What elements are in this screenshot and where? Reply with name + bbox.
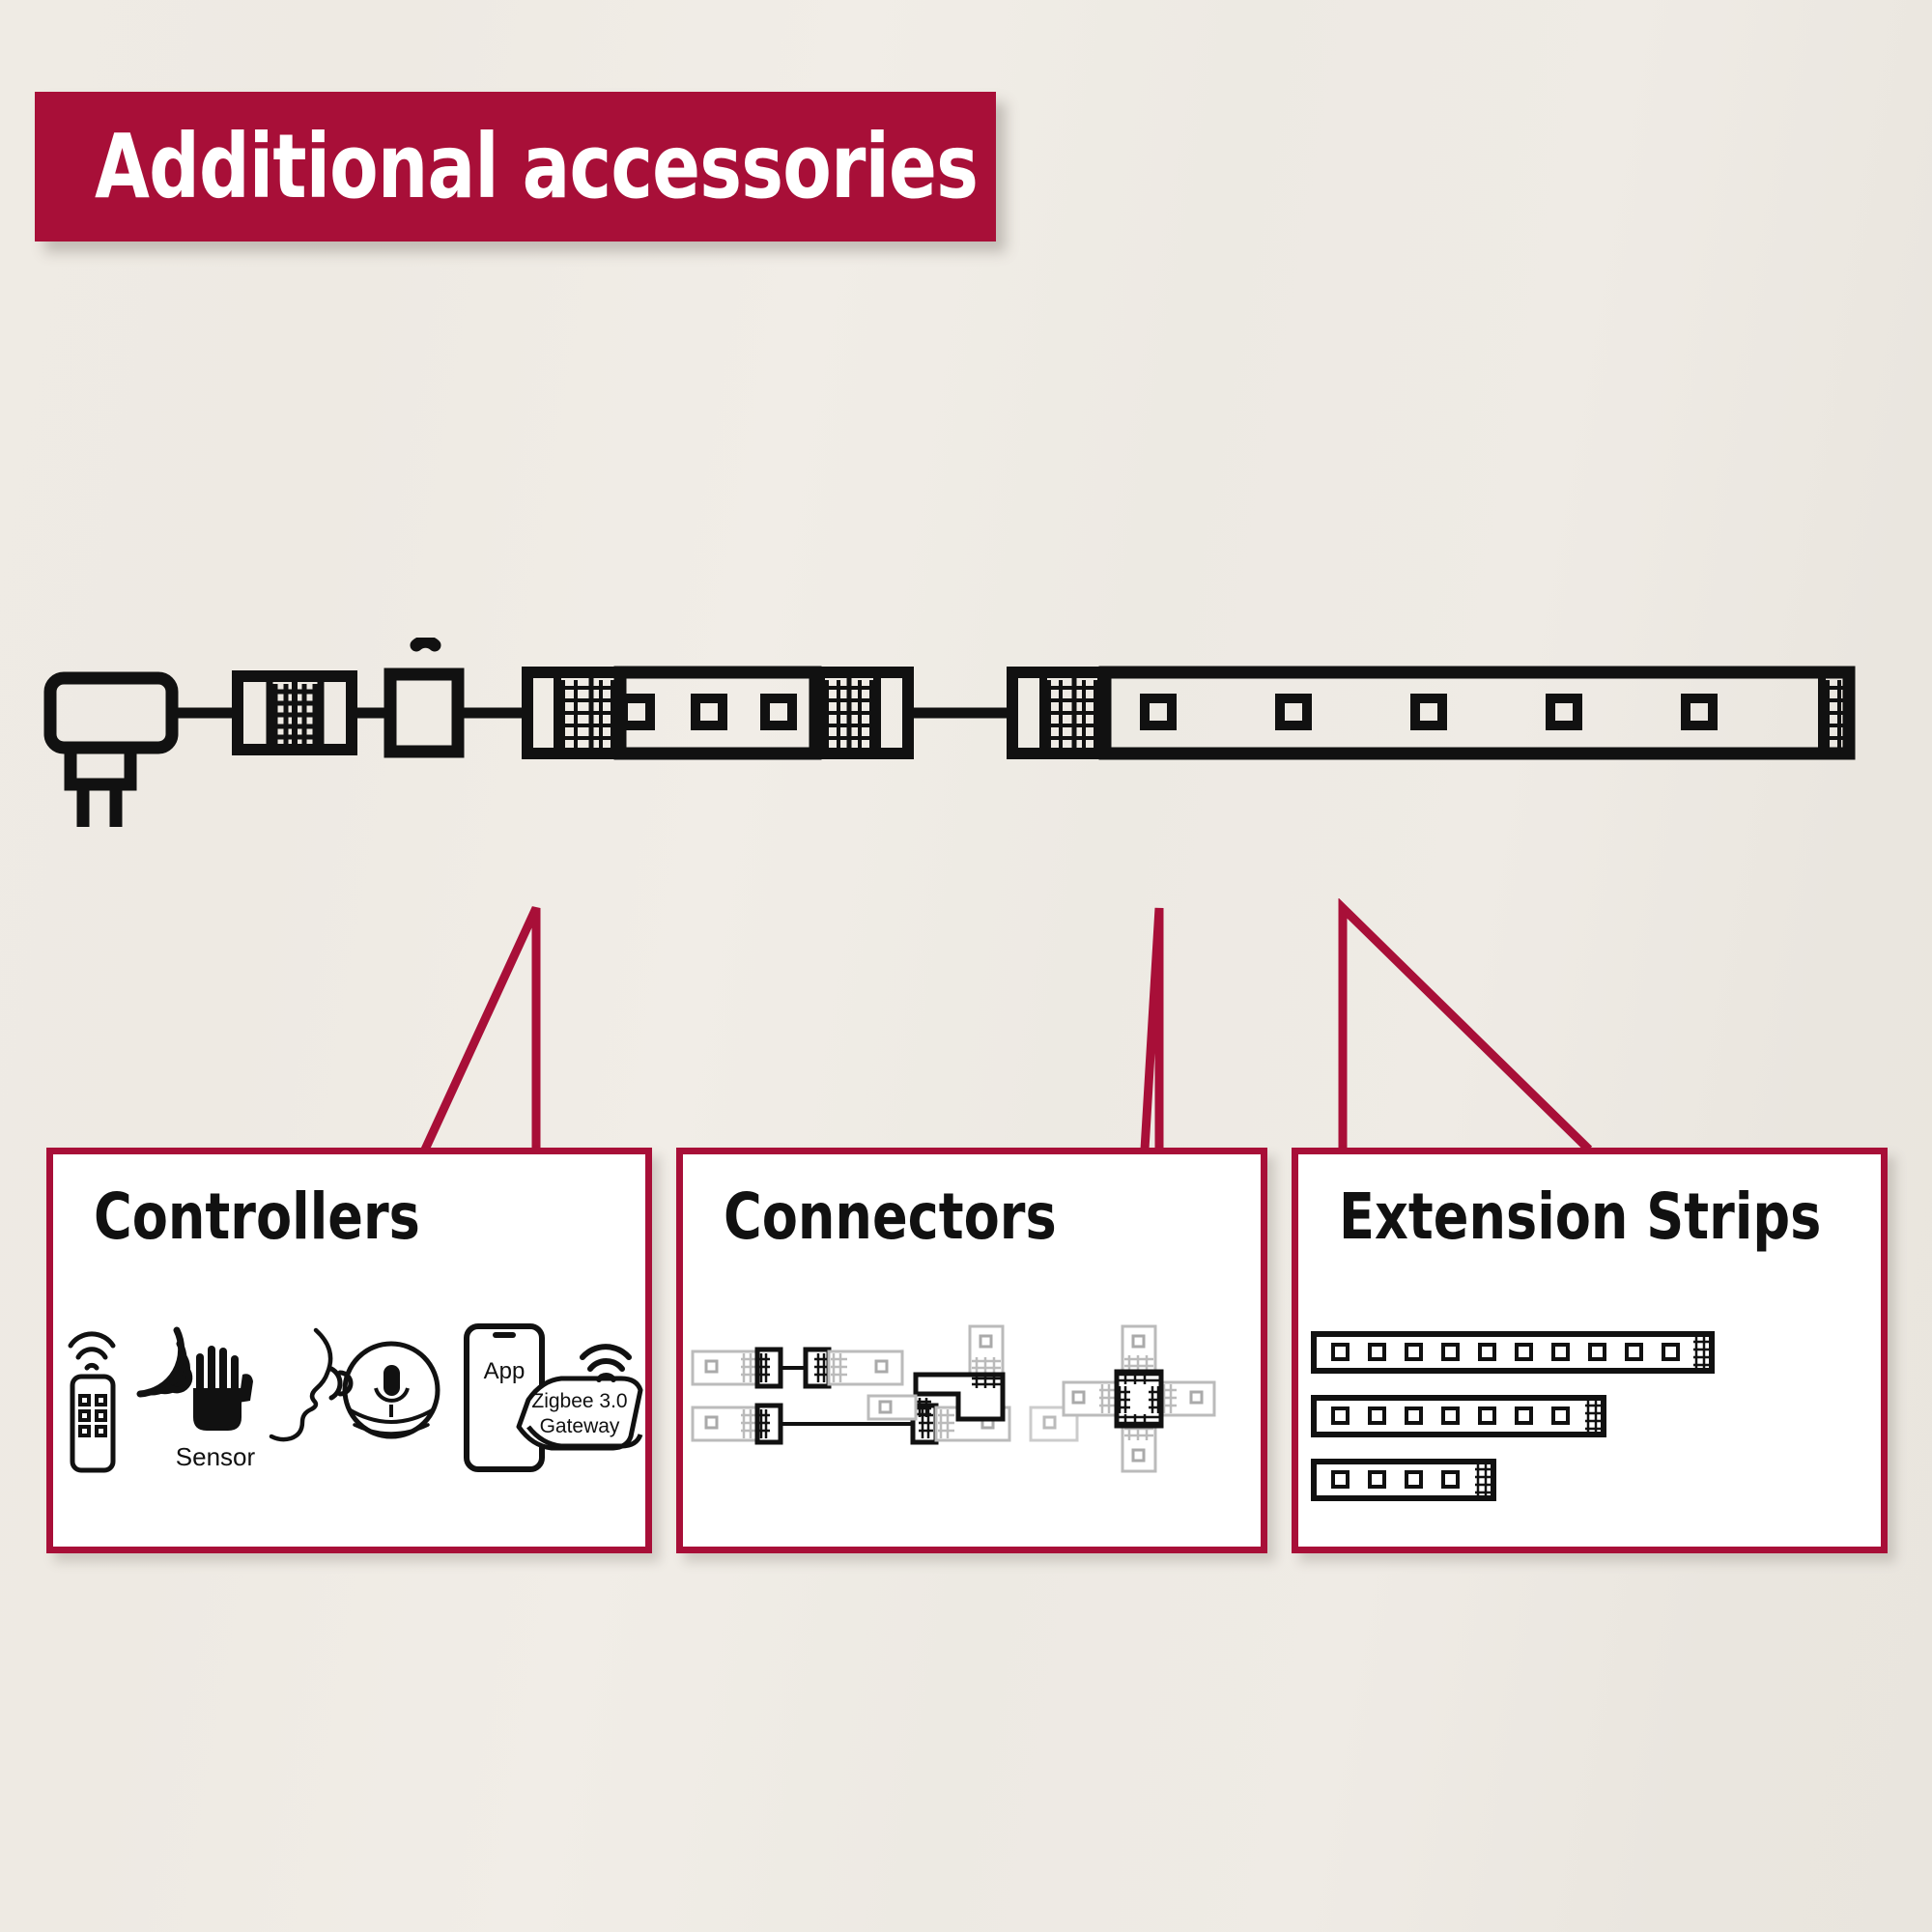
extension-strip-short (1314, 1462, 1493, 1498)
callout-arrows (0, 898, 1932, 1150)
arrow-to-extensions (1343, 908, 1589, 1150)
voice-control-icon (271, 1330, 438, 1439)
led-strip-icon-2 (1105, 672, 1849, 753)
page-title: Additional accessories (95, 123, 978, 212)
card-controllers[interactable]: Controllers (46, 1148, 652, 1553)
motion-sensor-icon (140, 1330, 253, 1431)
card-title-controllers: Controllers (94, 1185, 420, 1249)
card-title-extensions: Extension Strips (1339, 1185, 1821, 1249)
arrow-to-controllers (425, 908, 536, 1150)
led-strip-icon-1 (620, 672, 815, 753)
zigbee-label-line1: Zigbee 3.0 (531, 1390, 627, 1412)
card-connectors[interactable]: Connectors (676, 1148, 1267, 1553)
extensions-figure (1298, 1319, 1881, 1541)
power-supply-plug-icon (50, 678, 172, 827)
arrow-to-connectors (1145, 908, 1159, 1150)
strip-connector-icon-4 (1012, 672, 1105, 753)
zigbee-gateway-icon (519, 1378, 640, 1448)
strip-connector-icon-3 (815, 672, 908, 753)
extension-strip-medium (1314, 1398, 1604, 1435)
app-label: App (484, 1358, 526, 1384)
strip-to-strip-short-connector-icon (693, 1350, 902, 1386)
microphone-icon (384, 1365, 400, 1396)
remote-control-icon (71, 1334, 113, 1470)
connectors-figure (683, 1319, 1261, 1541)
strip-connector-icon-1 (238, 676, 352, 750)
zigbee-label-line2: Gateway (540, 1415, 620, 1437)
strip-connector-icon-2 (527, 672, 620, 753)
cross-connector-icon (1064, 1326, 1214, 1471)
page-title-banner: Additional accessories (35, 92, 996, 241)
sensor-label: Sensor (176, 1442, 256, 1471)
wifi-icon (396, 638, 454, 645)
led-system-chain-diagram (0, 638, 1932, 927)
extension-strip-long (1314, 1334, 1712, 1371)
controller-box-icon (390, 674, 458, 752)
controllers-figure: Sensor (53, 1319, 645, 1541)
card-title-connectors: Connectors (724, 1185, 1057, 1249)
gateway-wifi-icon (582, 1347, 629, 1379)
card-extensions[interactable]: Extension Strips (1292, 1148, 1888, 1553)
